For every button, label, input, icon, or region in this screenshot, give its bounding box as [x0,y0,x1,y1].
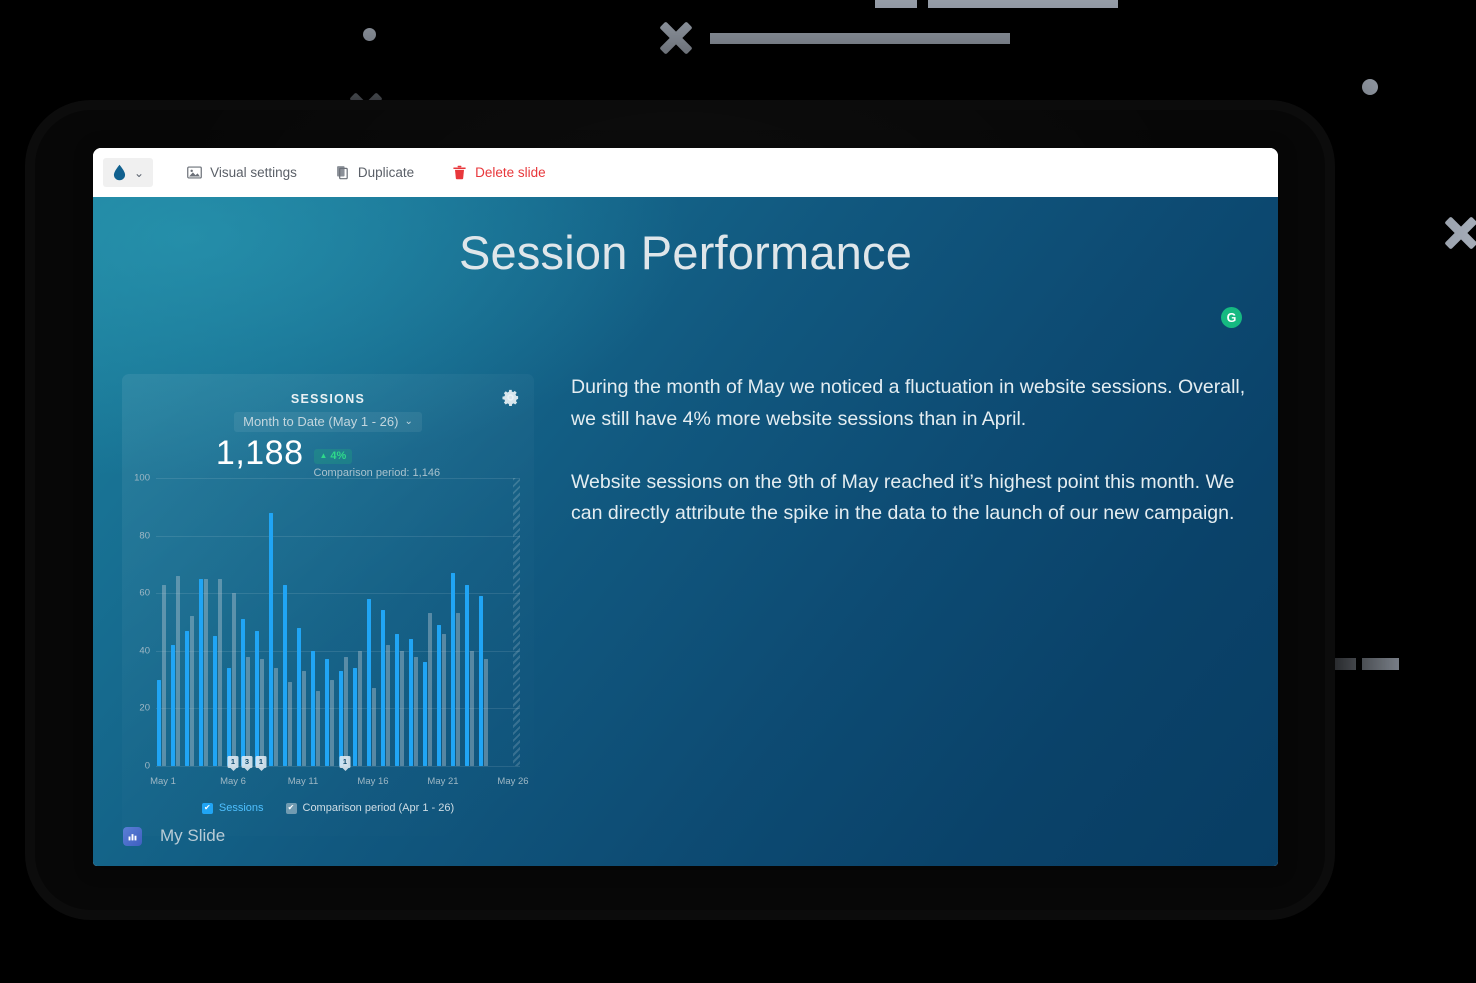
chart-bar-sessions [451,573,455,766]
water-drop-icon [113,164,126,181]
decor-bar-1 [875,0,917,8]
delta-value: 4% [330,450,346,462]
chart-bar-sessions [423,662,427,766]
visual-settings-button[interactable]: Visual settings [179,160,305,185]
chart-bar-sessions [269,513,273,766]
chart-bar-sessions [283,585,287,766]
duplicate-label: Duplicate [358,165,414,180]
chart-annotation-marker[interactable]: 3 [242,756,253,768]
chart-bar-comparison [176,576,180,766]
legend-label: Sessions [219,802,264,814]
chart-y-tick-label: 100 [134,473,150,484]
chart-bar-sessions [395,634,399,766]
widget-metric-label: SESSIONS [122,374,534,406]
decor-bar-5 [1362,658,1399,670]
chart-bar-comparison [456,613,460,766]
chart-bar-sessions [325,659,329,766]
chart-bar-comparison [428,613,432,766]
chart-bar-sessions [437,625,441,766]
legend-label: Comparison period (Apr 1 - 26) [303,802,455,814]
chart-bar-group[interactable] [156,478,170,766]
chart-bar-comparison [274,668,278,766]
chart-legend: ✔Sessions✔Comparison period (Apr 1 - 26) [122,802,534,814]
chart-bar-sessions [339,671,343,766]
slide-body-text[interactable]: During the month of May we noticed a flu… [571,372,1271,530]
delete-slide-label: Delete slide [475,165,546,180]
avatar[interactable]: G [1221,307,1242,328]
chart-bar-comparison [162,585,166,766]
chevron-down-icon: ⌄ [134,167,144,179]
screenshot-stage: ⌄ Visual settings Duplicate [0,0,1476,983]
chart-bar-group[interactable] [352,478,366,766]
chart-bar-group[interactable] [338,478,352,766]
chart-bar-group[interactable] [478,478,492,766]
legend-item[interactable]: ✔Comparison period (Apr 1 - 26) [286,802,455,814]
chart-bar-group[interactable] [226,478,240,766]
chart-bar-group[interactable] [212,478,226,766]
image-icon [187,165,202,180]
chart-bar-group[interactable] [422,478,436,766]
chart-bar-comparison [246,657,250,766]
chart-bar-comparison [358,651,362,766]
slide-name: My Slide [160,826,225,846]
chart-annotation-marker[interactable]: 1 [340,756,351,768]
chart-bar-group[interactable] [254,478,268,766]
sessions-bar-chart[interactable]: 020406080100 May 1May 6May 11May 16May 2… [122,472,534,792]
chart-bar-group[interactable] [408,478,422,766]
chart-bar-sessions [409,639,413,766]
legend-item[interactable]: ✔Sessions [202,802,264,814]
chart-bar-comparison [204,579,208,766]
chart-bars [156,478,520,766]
chart-bar-sessions [185,631,189,766]
chart-bar-group[interactable] [492,478,506,766]
chart-bar-group[interactable] [310,478,324,766]
decor-dot-1 [363,28,376,41]
chart-bar-sessions [353,668,357,766]
chart-bar-group[interactable] [268,478,282,766]
chart-x-tick-label: May 1 [150,776,176,787]
decor-x-3 [1444,216,1476,250]
chart-bar-sessions [465,585,469,766]
chart-bar-comparison [288,682,292,766]
copy-icon [335,165,350,180]
trash-icon [452,165,467,180]
chart-bar-comparison [260,659,264,766]
chart-bar-comparison [344,657,348,766]
chart-bar-comparison [232,593,236,766]
visual-settings-label: Visual settings [210,165,297,180]
decor-x-1 [659,21,693,55]
chart-bar-sessions [381,610,385,766]
chart-bar-group[interactable] [240,478,254,766]
chart-bar-comparison [218,579,222,766]
chart-bar-comparison [190,616,194,766]
chart-y-tick-label: 60 [139,588,150,599]
chart-x-tick-label: May 16 [357,776,388,787]
chart-plot-area: 020406080100 [156,478,520,766]
chart-bar-group[interactable] [198,478,212,766]
body-paragraph: During the month of May we noticed a flu… [571,372,1271,435]
chart-y-tick-label: 40 [139,645,150,656]
chart-bar-comparison [316,691,320,766]
chart-x-tick-label: May 11 [288,776,318,787]
date-range-label: Month to Date (May 1 - 26) [243,414,398,429]
decor-bar-2 [928,0,1118,8]
chart-bar-group[interactable] [436,478,450,766]
slide-toolbar: ⌄ Visual settings Duplicate [93,148,1278,197]
chart-bar-comparison [470,651,474,766]
kpi-value: 1,188 [216,436,304,472]
slide-canvas[interactable]: Session Performance G SESSIONS Month to … [93,197,1278,866]
theme-color-selector[interactable]: ⌄ [103,158,153,187]
chart-bar-sessions [479,596,483,766]
chart-bar-sessions [241,619,245,766]
chart-gridline [156,766,520,767]
date-range-selector[interactable]: Month to Date (May 1 - 26) ⌄ [234,412,422,432]
sessions-widget[interactable]: SESSIONS Month to Date (May 1 - 26) ⌄ 1,… [122,374,534,836]
chart-x-tick-label: May 6 [220,776,246,787]
gear-icon[interactable] [501,388,520,407]
delete-slide-button[interactable]: Delete slide [444,160,554,185]
chart-bar-group[interactable] [380,478,394,766]
chevron-down-icon: ⌄ [404,416,412,427]
legend-checkbox[interactable]: ✔ [202,803,213,814]
chart-bar-comparison [484,659,488,766]
chart-x-tick-label: May 26 [497,776,528,787]
status-badge: ▲ 4% [314,449,353,464]
chart-x-axis: May 1May 6May 11May 16May 21May 261311 [156,768,520,792]
chart-bar-comparison [386,645,390,766]
chart-bar-group[interactable] [170,478,184,766]
chart-y-tick-label: 0 [145,761,150,772]
chart-bar-sessions [227,668,231,766]
chart-bar-group[interactable] [184,478,198,766]
chart-bar-comparison [302,671,306,766]
chart-bar-sessions [297,628,301,766]
chart-bar-comparison [400,651,404,766]
duplicate-button[interactable]: Duplicate [327,160,422,185]
chart-bar-comparison [414,657,418,766]
chart-x-tick-label: May 21 [427,776,458,787]
chart-bar-group[interactable] [296,478,310,766]
slide-footer: My Slide [123,826,225,846]
chart-bar-group[interactable] [450,478,464,766]
chart-bar-sessions [367,599,371,766]
chart-bar-sessions [157,680,161,766]
chart-bar-sessions [213,636,217,766]
triangle-up-icon: ▲ [320,452,328,460]
decor-dot-2 [1362,79,1378,95]
bar-chart-logo-icon [123,827,142,846]
decor-bar-3 [710,33,1010,44]
chart-bar-sessions [171,645,175,766]
chart-bar-comparison [330,680,334,766]
chart-bar-sessions [199,579,203,766]
chart-annotation-marker[interactable]: 1 [256,756,267,768]
chart-bar-sessions [311,651,315,766]
chart-bar-sessions [255,631,259,766]
incomplete-period-hatch [513,478,520,766]
chart-bar-group[interactable] [394,478,408,766]
chart-y-tick-label: 80 [139,530,150,541]
page-title: Session Performance [93,225,1278,280]
legend-checkbox[interactable]: ✔ [286,803,297,814]
chart-bar-comparison [442,634,446,766]
app-window: ⌄ Visual settings Duplicate [93,148,1278,866]
chart-y-tick-label: 20 [139,703,150,714]
body-paragraph: Website sessions on the 9th of May reach… [571,467,1271,530]
chart-bar-group[interactable] [366,478,380,766]
chart-bar-group[interactable] [282,478,296,766]
chart-bar-group[interactable] [464,478,478,766]
chart-bar-comparison [372,688,376,766]
chart-annotation-marker[interactable]: 1 [228,756,239,768]
chart-bar-group[interactable] [324,478,338,766]
